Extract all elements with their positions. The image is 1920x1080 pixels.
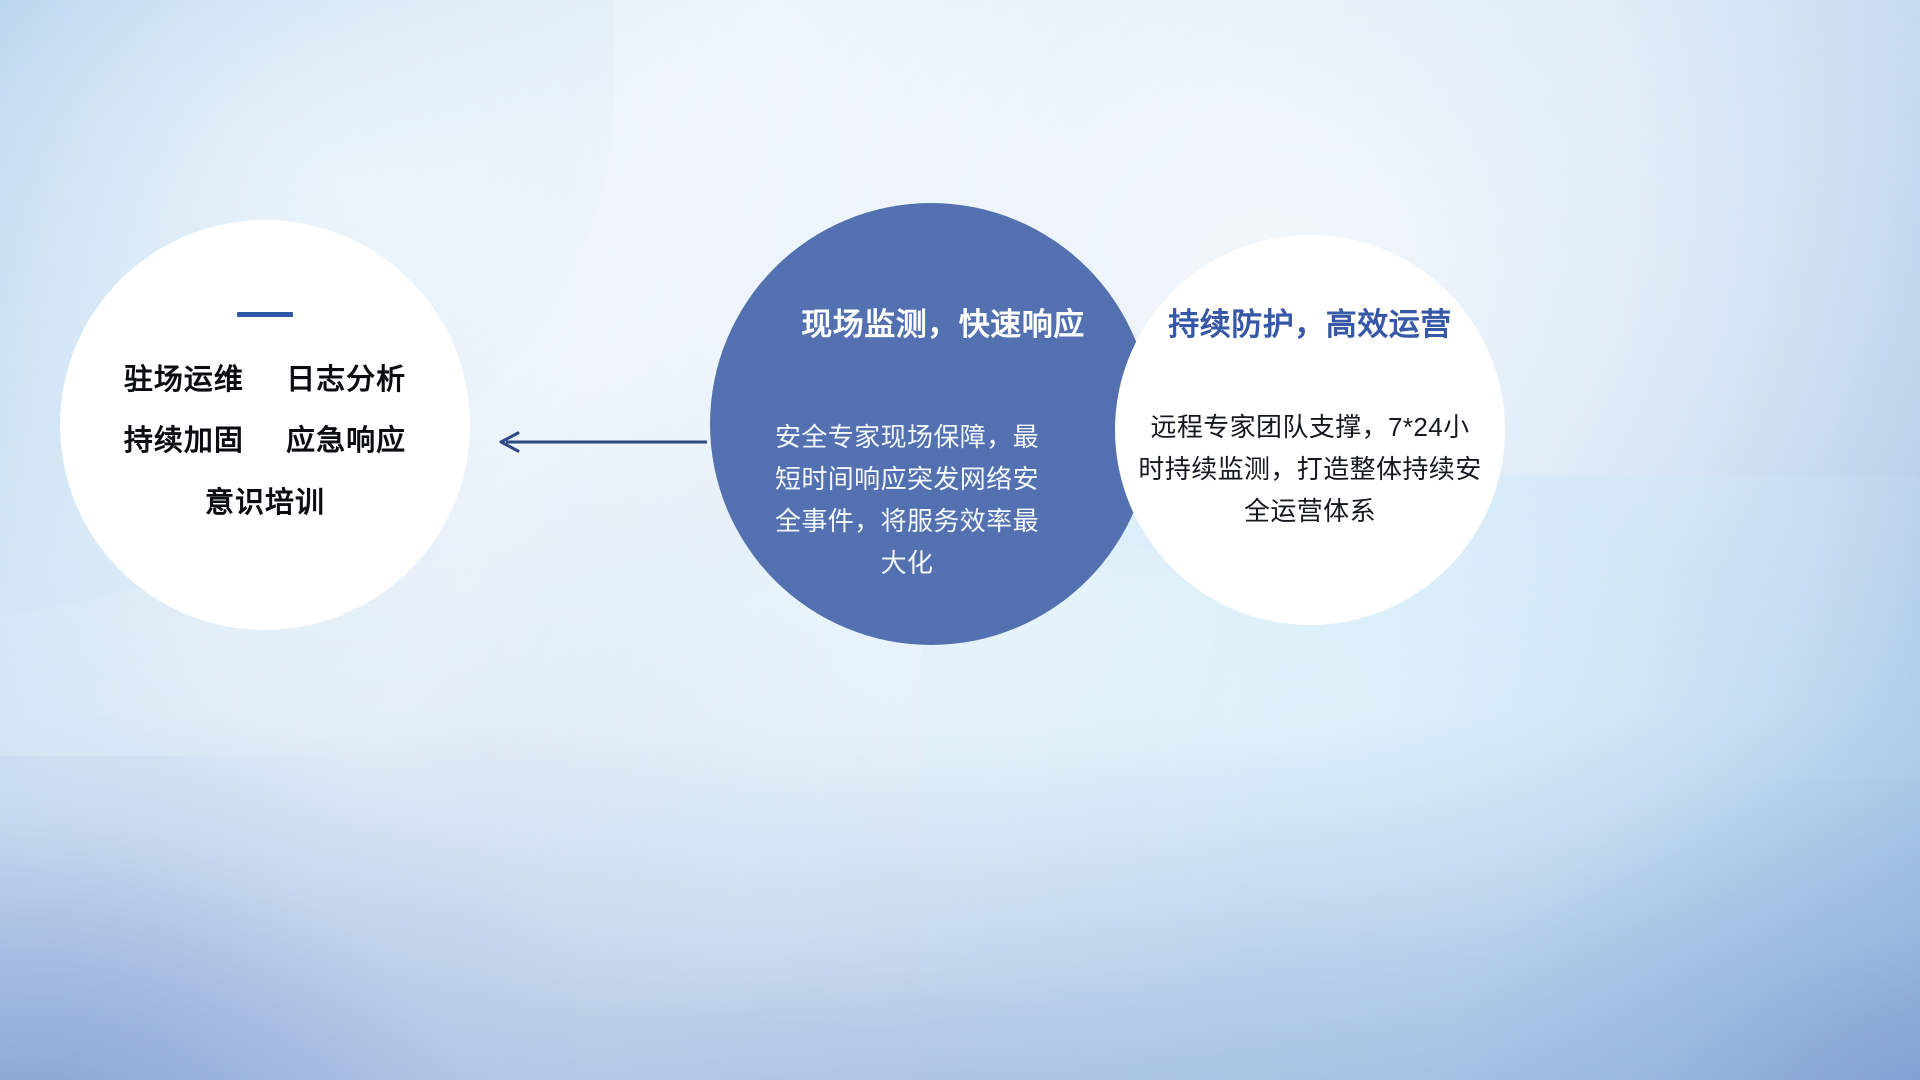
service-tag-continuous-hardening: 持续加固: [124, 425, 244, 457]
service-tag-emergency-response: 应急响应: [286, 425, 406, 457]
service-tag-log-analysis: 日志分析: [286, 364, 406, 396]
continuous-protection-body: 远程专家团队支撑，7*24小时持续监测，打造整体持续安全运营体系: [1138, 406, 1482, 532]
flow-arrow-left: [492, 426, 708, 458]
service-row-1: 驻场运维 日志分析: [86, 365, 444, 395]
service-tag-awareness-training: 意识培训: [205, 487, 325, 519]
background-corner-bottom-left: [0, 756, 576, 1080]
service-tag-onsite-ops: 驻场运维: [124, 364, 244, 396]
driven-services-circle[interactable]: 驻场运维 日志分析 持续加固 应急响应 意识培训: [60, 220, 470, 630]
continuous-protection-content: 持续防护，高效运营 远程专家团队支撑，7*24小时持续监测，打造整体持续安全运营…: [1115, 299, 1505, 532]
continuous-protection-title: 持续防护，高效运营: [1133, 299, 1487, 344]
service-row-2: 持续加固 应急响应: [86, 426, 444, 456]
background-corner-bottom-right: [1459, 778, 1920, 1080]
continuous-protection-circle[interactable]: 持续防护，高效运营 远程专家团队支撑，7*24小时持续监测，打造整体持续安全运营…: [1115, 235, 1505, 625]
driven-services-content: 驻场运维 日志分析 持续加固 应急响应 意识培训: [60, 312, 470, 518]
onsite-monitoring-circle[interactable]: 现场监测，快速响应 安全专家现场保障，最短时间响应突发网络安全事件，将服务效率最…: [710, 203, 1152, 645]
onsite-monitoring-body: 安全专家现场保障，最短时间响应突发网络安全事件，将服务效率最大化: [762, 416, 1052, 584]
onsite-monitoring-content: 现场监测，快速响应 安全专家现场保障，最短时间响应突发网络安全事件，将服务效率最…: [710, 299, 1152, 584]
slide-canvas: 驻场运维 日志分析 持续加固 应急响应 意识培训 现场监测，快速响应 安全专家现…: [0, 0, 1920, 1080]
horizontal-dash-icon: [237, 312, 293, 317]
onsite-monitoring-title: 现场监测，快速响应: [768, 299, 1118, 344]
service-row-3: 意识培训: [86, 488, 444, 518]
